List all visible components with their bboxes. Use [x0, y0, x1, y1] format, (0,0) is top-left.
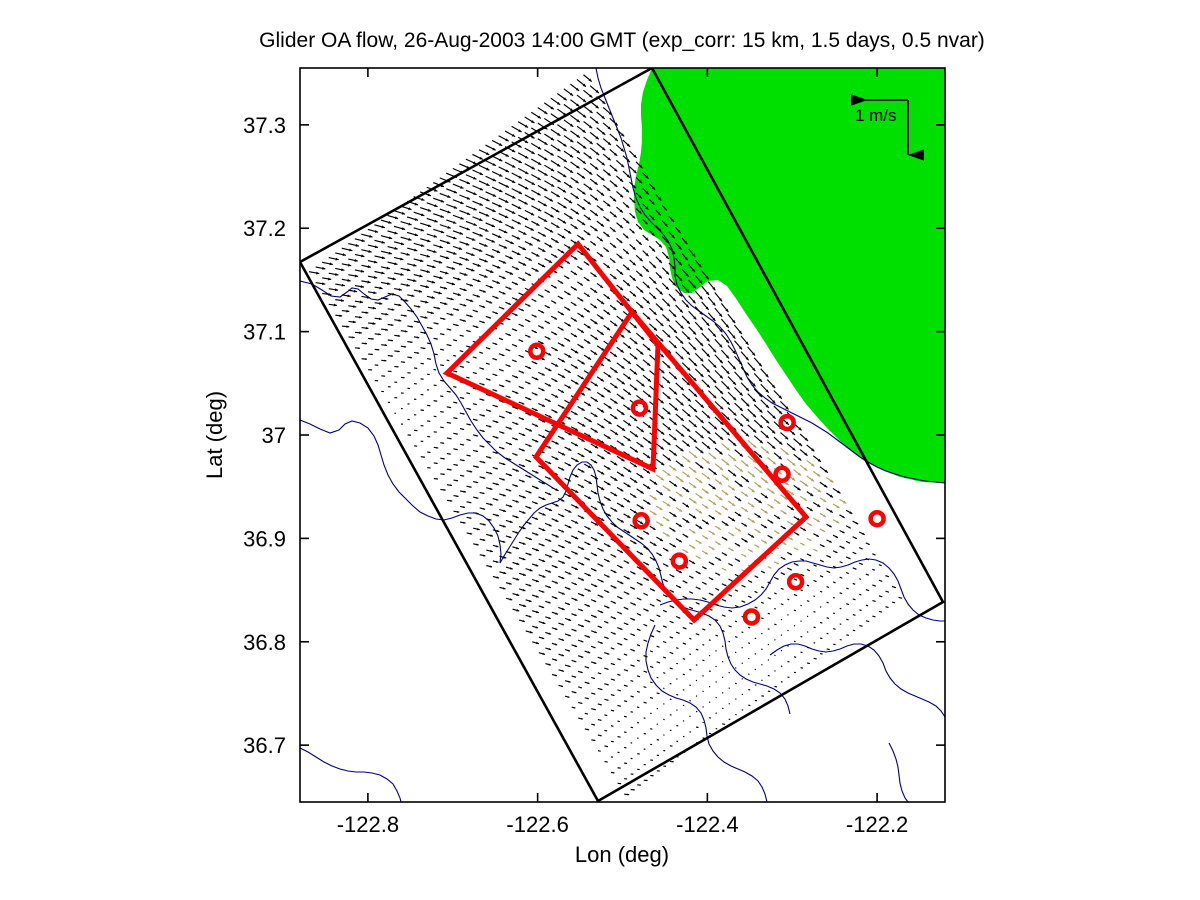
flow-vector	[644, 687, 647, 688]
flow-vector	[630, 681, 633, 682]
flow-vector	[650, 682, 652, 683]
flow-vector	[434, 385, 437, 386]
flow-vector	[768, 629, 770, 630]
quiver-map-plot: Glider OA flow, 26-Aug-2003 14:00 GMT (e…	[0, 0, 1200, 900]
y-tick-label: 37.3	[243, 113, 286, 138]
flow-vector	[683, 659, 685, 660]
flow-vector	[872, 616, 875, 617]
flow-vector	[814, 627, 816, 628]
flow-vector	[807, 601, 809, 602]
flow-vector	[833, 644, 835, 645]
x-tick-label: -122.2	[846, 812, 908, 837]
flow-vector	[676, 663, 678, 664]
flow-vector	[735, 621, 737, 622]
flow-vector	[663, 673, 665, 674]
flow-vector	[787, 599, 789, 600]
flow-vector	[761, 618, 763, 619]
flow-vector	[631, 727, 633, 728]
flow-vector	[453, 355, 456, 356]
flow-vector	[840, 608, 842, 609]
flow-vector	[859, 610, 861, 611]
flow-vector	[820, 638, 822, 639]
flow-vector	[618, 737, 621, 738]
flow-vector	[604, 730, 607, 731]
flow-vector	[709, 671, 711, 672]
flow-vector	[650, 698, 653, 699]
flow-vector	[820, 591, 822, 592]
flow-vector	[807, 585, 809, 586]
y-tick-label: 37	[262, 423, 286, 448]
flow-vector	[827, 618, 829, 619]
flow-vector	[683, 674, 685, 675]
x-tick-label: -122.8	[337, 812, 399, 837]
flow-vector	[702, 645, 704, 646]
flow-vector	[657, 677, 659, 678]
flow-vector	[820, 622, 822, 623]
flow-vector	[807, 663, 810, 664]
flow-vector	[611, 741, 614, 742]
flow-vector	[637, 691, 640, 692]
flow-vector	[820, 654, 822, 655]
flow-vector	[774, 624, 776, 625]
flow-vector	[827, 602, 829, 603]
y-tick-label: 36.7	[243, 733, 286, 758]
page-title: Glider OA flow, 26-Aug-2003 14:00 GMT (e…	[259, 29, 985, 52]
flow-vector	[833, 629, 835, 630]
flow-vector	[657, 693, 660, 694]
figure-container: Glider OA flow, 26-Aug-2003 14:00 GMT (e…	[0, 0, 1200, 900]
flow-vector	[833, 597, 835, 598]
flow-vector	[631, 712, 633, 713]
scale-label: 1 m/s	[855, 106, 897, 125]
y-tick-label: 37.2	[243, 216, 286, 241]
flow-vector	[774, 609, 776, 610]
flow-vector	[447, 360, 450, 361]
flow-vector	[624, 732, 626, 733]
flow-vector	[702, 660, 704, 661]
x-tick-label: -122.4	[676, 812, 738, 837]
flow-vector	[794, 657, 796, 658]
y-axis-label: Lat (deg)	[202, 391, 227, 479]
x-tick-label: -122.6	[506, 812, 568, 837]
flow-vector	[879, 611, 882, 612]
flow-vector	[814, 596, 815, 597]
flow-vector	[689, 654, 691, 655]
flow-vector	[709, 640, 711, 641]
flow-vector	[748, 627, 750, 628]
flow-vector	[742, 632, 744, 633]
y-tick-label: 37.1	[243, 320, 286, 345]
flow-vector	[748, 643, 750, 644]
flow-vector	[866, 605, 868, 606]
flow-vector	[814, 658, 817, 659]
flow-vector	[735, 637, 737, 638]
flow-vector	[853, 615, 856, 616]
flow-vector	[768, 613, 770, 614]
flow-vector	[774, 686, 777, 687]
flow-vector	[611, 726, 613, 727]
flow-vector	[644, 702, 647, 703]
flow-vector	[801, 668, 803, 669]
flow-vector	[833, 613, 835, 614]
flow-vector	[859, 579, 861, 580]
flow-vector	[794, 610, 796, 611]
y-tick-label: 36.9	[243, 526, 286, 551]
flow-vector	[827, 649, 830, 650]
flow-vector	[807, 647, 809, 648]
y-tick-label: 36.8	[243, 630, 286, 655]
flow-vector	[624, 716, 627, 717]
flow-vector	[814, 612, 816, 613]
flow-vector	[689, 669, 691, 670]
flow-vector	[676, 648, 678, 649]
flow-vector	[637, 707, 639, 708]
x-axis-label: Lon (deg)	[575, 842, 669, 867]
flow-vector	[846, 635, 849, 636]
flow-vector	[689, 638, 691, 639]
flow-vector	[617, 721, 619, 722]
flow-vector	[859, 594, 861, 595]
flow-vector	[853, 630, 855, 631]
flow-vector	[846, 619, 848, 620]
flow-vector	[604, 715, 607, 716]
